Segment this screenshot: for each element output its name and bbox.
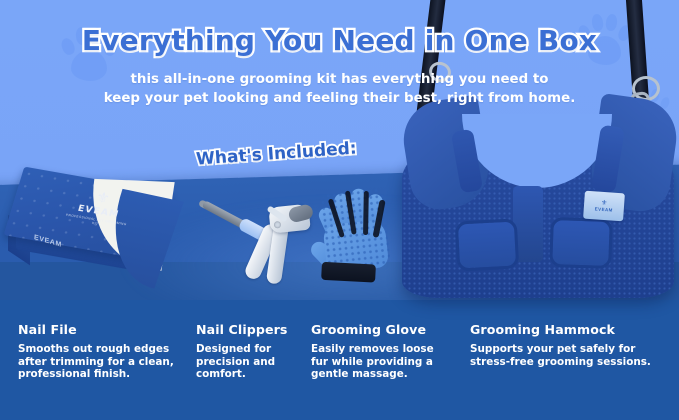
caption-description: Designed for precision and comfort. [196,343,308,381]
hammock-brand-text: EVEAM [595,206,613,212]
caption-grooming-hammock: Grooming Hammock Supports your pet safel… [470,322,670,368]
product-box: ⚜ EVEAM PROFESSIONAL PET GROOMING KIT EV… [8,178,178,288]
caption-title: Nail File [18,322,196,337]
hammock-leg-hole-left [455,218,520,271]
subtitle-line-1: this all-in-one grooming kit has everyth… [0,70,679,89]
product-infographic: ⚜ EVEAM ⚜ EVEAM PROFESSIONAL PET GROOMIN… [0,0,679,420]
caption-title: Grooming Glove [311,322,453,337]
hammock-leg-hole-right [549,217,613,269]
caption-grooming-glove: Grooming Glove Easily removes loose fur … [311,322,453,381]
glove-cuff [321,262,376,283]
caption-row: Nail File Smooths out rough edges after … [0,322,679,420]
caption-description: Easily removes loose fur while providing… [311,343,453,381]
caption-title: Nail Clippers [196,322,308,337]
caption-description: Supports your pet safely for stress-free… [470,343,670,368]
glove-finger-gap [363,191,369,235]
page-subtitle: this all-in-one grooming kit has everyth… [0,70,679,108]
caption-title: Grooming Hammock [470,322,670,337]
subtitle-line-2: keep your pet looking and feeling their … [0,89,679,108]
page-title: Everything You Need in One Box [0,24,679,57]
hammock-brand-label: ⚜ EVEAM [583,191,625,222]
product-grooming-glove [311,184,405,292]
caption-nail-clippers: Nail Clippers Designed for precision and… [196,322,308,381]
caption-nail-file: Nail File Smooths out rough edges after … [18,322,196,381]
caption-description: Smooths out rough edges after trimming f… [18,343,196,381]
